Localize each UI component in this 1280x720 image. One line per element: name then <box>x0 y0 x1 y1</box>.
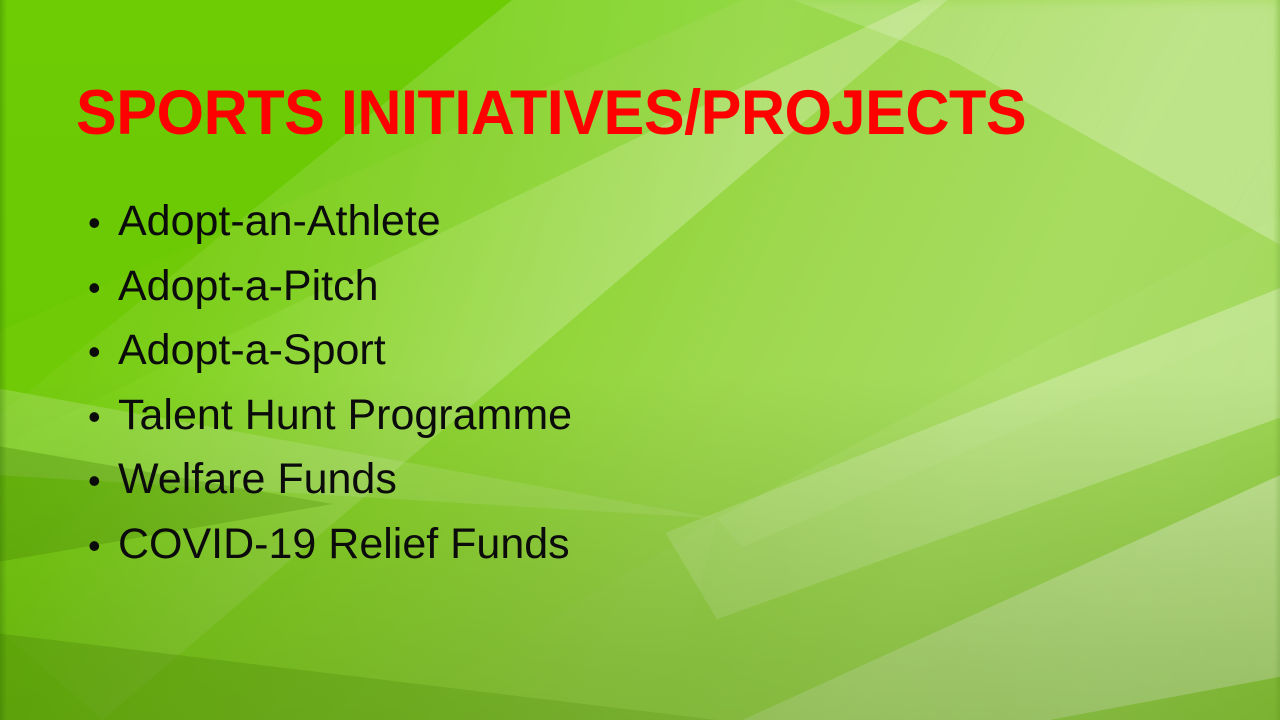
bullet-dot-icon: • <box>88 449 118 514</box>
list-item-label: COVID-19 Relief Funds <box>118 512 570 577</box>
bullet-dot-icon: • <box>88 256 118 321</box>
bullet-dot-icon: • <box>88 385 118 450</box>
slide-title: SPORTS INITIATIVES/PROJECTS <box>76 82 1143 145</box>
bullet-dot-icon: • <box>88 514 118 579</box>
list-item: • Talent Hunt Programme <box>88 383 1088 448</box>
slide-content: SPORTS INITIATIVES/PROJECTS • Adopt-an-A… <box>0 0 1280 720</box>
list-item-label: Adopt-a-Pitch <box>118 254 379 319</box>
list-item-label: Welfare Funds <box>118 447 397 512</box>
list-item: • Welfare Funds <box>88 447 1088 512</box>
list-item: • Adopt-a-Pitch <box>88 254 1088 319</box>
bullet-list: • Adopt-an-Athlete • Adopt-a-Pitch • Ado… <box>88 189 1088 576</box>
list-item-label: Talent Hunt Programme <box>118 383 572 448</box>
bullet-dot-icon: • <box>88 320 118 385</box>
list-item: • COVID-19 Relief Funds <box>88 512 1088 577</box>
list-item-label: Adopt-an-Athlete <box>118 189 441 254</box>
presentation-slide: SPORTS INITIATIVES/PROJECTS • Adopt-an-A… <box>0 0 1280 720</box>
list-item: • Adopt-an-Athlete <box>88 189 1088 254</box>
list-item: • Adopt-a-Sport <box>88 318 1088 383</box>
list-item-label: Adopt-a-Sport <box>118 318 386 383</box>
bullet-dot-icon: • <box>88 191 118 256</box>
